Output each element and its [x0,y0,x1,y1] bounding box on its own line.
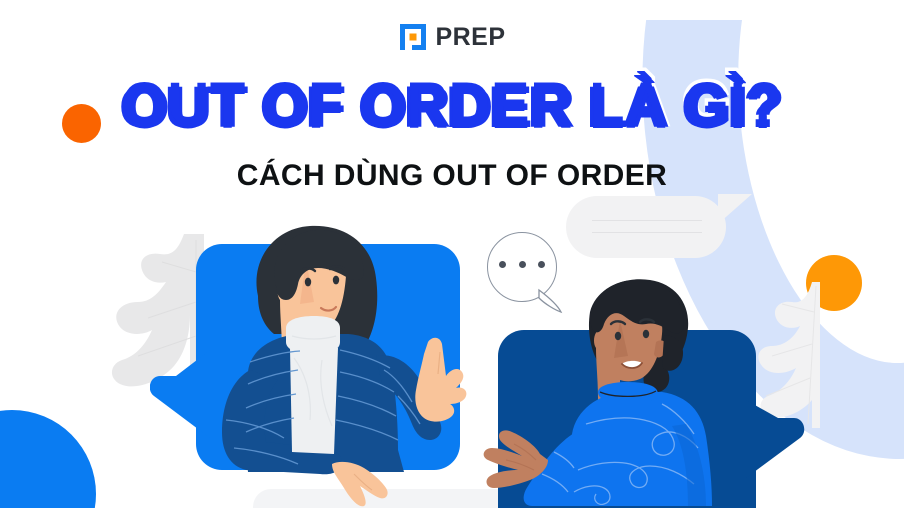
brand-logo: PREP [0,22,904,52]
ellipsis-speech-bubble-tail [537,288,563,312]
man-gesturing-illustration [466,276,766,508]
brand-name: PREP [435,25,505,50]
dot-icon [499,261,506,268]
page-subtitle: CÁCH DÙNG OUT OF ORDER [0,159,904,193]
ellipsis-dots [488,261,556,268]
poster-canvas: PREP OUT OF ORDER LÀ GÌ? CÁCH DÙNG OUT O… [0,0,904,508]
woman-pointing-illustration [188,224,488,508]
bubble-text-line [592,220,702,221]
prep-logo-icon [398,22,428,52]
dot-icon [519,261,526,268]
dot-icon [538,261,545,268]
background-circle-blue [0,410,96,508]
bubble-text-line [592,232,702,233]
background-arc-mask [524,0,904,20]
page-title: OUT OF ORDER LÀ GÌ? [0,70,904,137]
grey-chat-bubble [566,196,726,258]
